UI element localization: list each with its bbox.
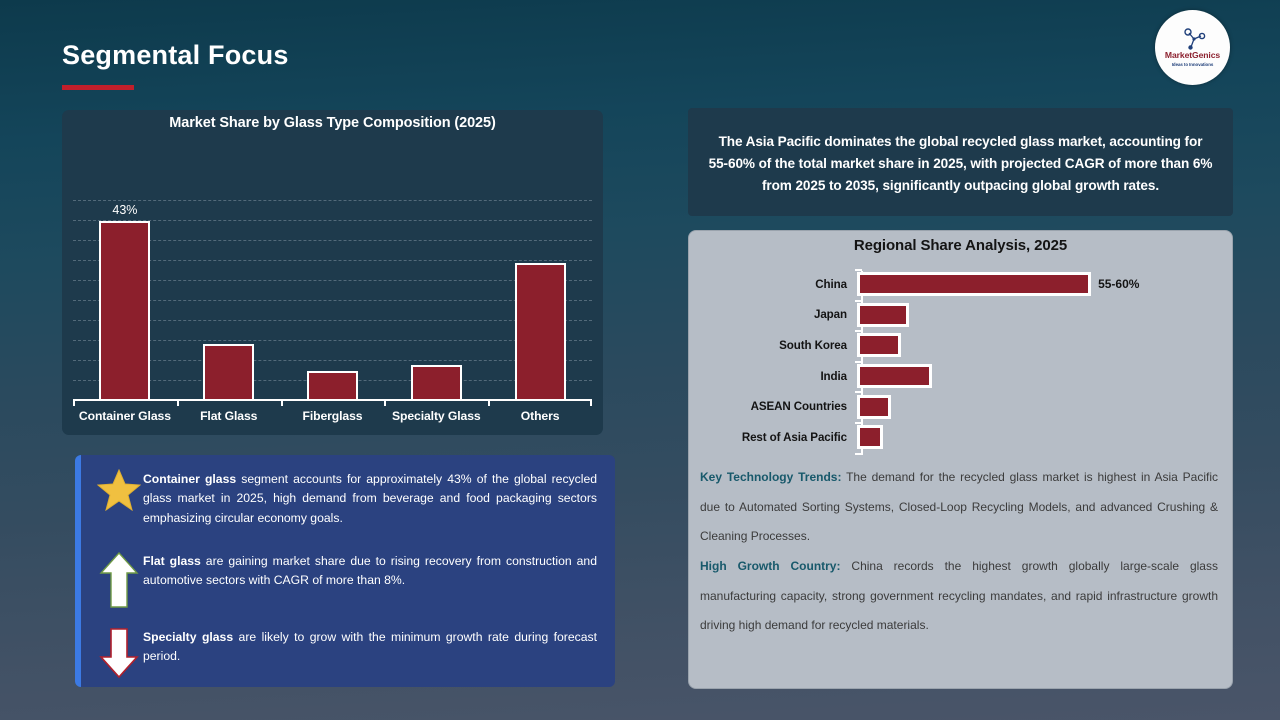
title-underline-rule [62, 85, 134, 90]
brand-logo: MarketGenics Ideas to Innovations [1155, 10, 1230, 85]
trend-paragraph-growth-country: High Growth Country: China records the h… [700, 552, 1218, 641]
x-axis-ticks [73, 399, 592, 406]
horizontal-bar-series: China55-60%JapanSouth KoreaIndiaASEAN Co… [689, 268, 1232, 456]
hbar-row[interactable]: ASEAN Countries [689, 391, 1232, 422]
hbar-track [857, 391, 1232, 422]
axis-tick [281, 399, 385, 406]
bar-slot[interactable] [384, 200, 488, 400]
hbar-track [857, 330, 1232, 361]
hbar[interactable] [857, 303, 909, 327]
segment-insights-panel: Container glass segment accounts for app… [75, 455, 615, 687]
bar[interactable] [203, 344, 254, 400]
insight-text-specialty-glass: Specialty glass are likely to grow with … [143, 627, 597, 667]
hbar[interactable] [857, 333, 901, 357]
bar-slot[interactable] [177, 200, 281, 400]
hbar-axis-tick [855, 269, 862, 271]
regional-share-card: Regional Share Analysis, 2025 China55-60… [688, 230, 1233, 689]
hbar-category-label: India [689, 370, 855, 383]
trend-paragraph-technology: Key Technology Trends: The demand for th… [700, 463, 1218, 552]
axis-tick [177, 399, 281, 406]
x-axis-category-labels: Container GlassFlat GlassFiberglassSpeci… [73, 408, 592, 426]
insight-body: are gaining market share due to rising r… [143, 554, 597, 587]
hbar-row[interactable]: Rest of Asia Pacific [689, 422, 1232, 453]
insight-lead: Container glass [143, 472, 236, 486]
star-icon [95, 469, 143, 511]
hbar-row[interactable]: China55-60% [689, 269, 1232, 300]
bar-slot[interactable] [488, 200, 592, 400]
insight-lead: Flat glass [143, 554, 201, 568]
hbar[interactable] [857, 364, 932, 388]
regional-share-title: Regional Share Analysis, 2025 [689, 231, 1232, 254]
hbar-row[interactable]: South Korea [689, 330, 1232, 361]
glass-type-chart-title: Market Share by Glass Type Composition (… [62, 110, 603, 131]
hbar-category-label: Japan [689, 308, 855, 321]
insight-lead: Specialty glass [143, 630, 233, 644]
insight-text-container-glass: Container glass segment accounts for app… [143, 469, 597, 528]
arrow-down-icon [95, 627, 143, 679]
category-label: Flat Glass [177, 408, 281, 426]
category-label: Specialty Glass [384, 408, 488, 426]
bar[interactable] [99, 221, 150, 400]
hbar-category-label: South Korea [689, 339, 855, 352]
hbar-value-label: 55-60% [1098, 277, 1139, 291]
category-label: Fiberglass [281, 408, 385, 426]
glass-type-plot-area: 43% [73, 200, 592, 400]
insight-item-flat-glass: Flat glass are gaining market share due … [95, 551, 597, 609]
arrow-up-icon [95, 551, 143, 609]
hbar-track [857, 361, 1232, 392]
hbar-axis-tick [855, 391, 862, 393]
bar-slot[interactable] [281, 200, 385, 400]
bar-value-label: 43% [112, 203, 137, 217]
hbar-axis-tick [855, 300, 862, 302]
page-title: Segmental Focus [62, 40, 289, 71]
regional-share-plot-area: China55-60%JapanSouth KoreaIndiaASEAN Co… [689, 268, 1232, 456]
bar[interactable] [515, 263, 566, 401]
bar[interactable] [307, 371, 358, 400]
asia-pacific-callout: The Asia Pacific dominates the global re… [688, 108, 1233, 216]
axis-tick [488, 399, 592, 406]
network-nodes-icon [1180, 28, 1206, 50]
trend-heading: High Growth Country: [700, 559, 840, 573]
callout-text: The Asia Pacific dominates the global re… [708, 131, 1213, 197]
logo-name: MarketGenics [1165, 51, 1220, 60]
hbar-track: 55-60% [857, 269, 1232, 300]
hbar-track [857, 300, 1232, 331]
hbar-category-label: Rest of Asia Pacific [689, 431, 855, 444]
hbar-row[interactable]: India [689, 361, 1232, 392]
axis-tick [73, 399, 177, 406]
hbar-category-label: ASEAN Countries [689, 400, 855, 413]
trend-notes: Key Technology Trends: The demand for th… [700, 463, 1218, 641]
insight-item-specialty-glass: Specialty glass are likely to grow with … [95, 627, 597, 679]
hbar-axis-tick [855, 453, 862, 455]
axis-tick [384, 399, 488, 406]
hbar[interactable] [857, 425, 883, 449]
hbar-category-label: China [689, 278, 855, 291]
bar-slot[interactable]: 43% [73, 200, 177, 400]
bar-series: 43% [73, 200, 592, 400]
hbar-row[interactable]: Japan [689, 300, 1232, 331]
category-label: Container Glass [73, 408, 177, 426]
insight-item-container-glass: Container glass segment accounts for app… [95, 469, 597, 528]
category-label: Others [488, 408, 592, 426]
hbar-track [857, 422, 1232, 453]
hbar-axis-tick [855, 422, 862, 424]
hbar-axis-tick [855, 330, 862, 332]
hbar-axis-tick [855, 361, 862, 363]
bar[interactable] [411, 365, 462, 400]
insight-text-flat-glass: Flat glass are gaining market share due … [143, 551, 597, 591]
trend-heading: Key Technology Trends: [700, 470, 841, 484]
glass-type-chart-card: Market Share by Glass Type Composition (… [62, 110, 603, 435]
logo-tagline: Ideas to Innovations [1172, 62, 1213, 67]
hbar[interactable] [857, 272, 1091, 296]
hbar[interactable] [857, 395, 891, 419]
